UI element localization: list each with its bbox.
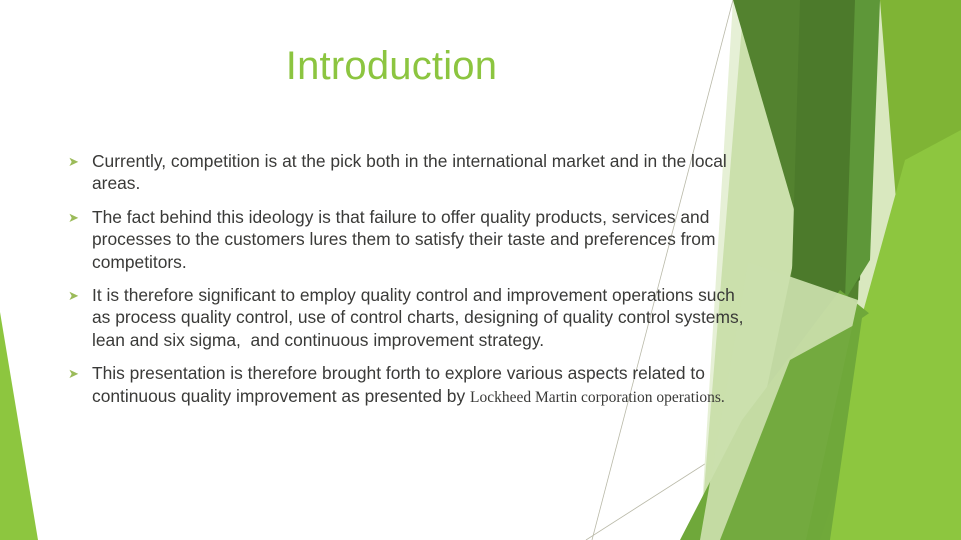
list-item-text-tail: Lockheed Martin corporation operations. <box>470 389 725 406</box>
list-item-text-main: It is therefore significant to employ qu… <box>92 285 748 350</box>
list-item-text: It is therefore significant to employ qu… <box>92 284 752 353</box>
poly-left-wedge <box>0 312 38 540</box>
slide-canvas: Introduction ➤ Currently, competition is… <box>0 0 961 540</box>
list-item-text: This presentation is therefore brought f… <box>92 362 752 409</box>
poly-lime-right <box>830 0 961 540</box>
list-item-text-main: Currently, competition is at the pick bo… <box>92 151 732 193</box>
bullet-arrow-icon: ➤ <box>62 284 92 302</box>
bullet-arrow-icon: ➤ <box>62 206 92 224</box>
poly-lime-lower <box>800 130 961 540</box>
poly-lime-tip <box>830 250 961 540</box>
list-item: ➤ This presentation is therefore brought… <box>62 362 752 409</box>
list-item-text: Currently, competition is at the pick bo… <box>92 150 752 197</box>
poly-mid-sliver <box>845 0 880 300</box>
poly-deep-shade <box>790 0 870 340</box>
list-item: ➤ It is therefore significant to employ … <box>62 284 752 353</box>
bullet-list: ➤ Currently, competition is at the pick … <box>62 150 752 418</box>
page-title: Introduction <box>0 44 783 88</box>
list-item-text: The fact behind this ideology is that fa… <box>92 206 752 275</box>
list-item: ➤ Currently, competition is at the pick … <box>62 150 752 197</box>
list-item: ➤ The fact behind this ideology is that … <box>62 206 752 275</box>
bullet-arrow-icon: ➤ <box>62 150 92 168</box>
list-item-text-main: The fact behind this ideology is that fa… <box>92 207 720 272</box>
bullet-arrow-icon: ➤ <box>62 362 92 380</box>
